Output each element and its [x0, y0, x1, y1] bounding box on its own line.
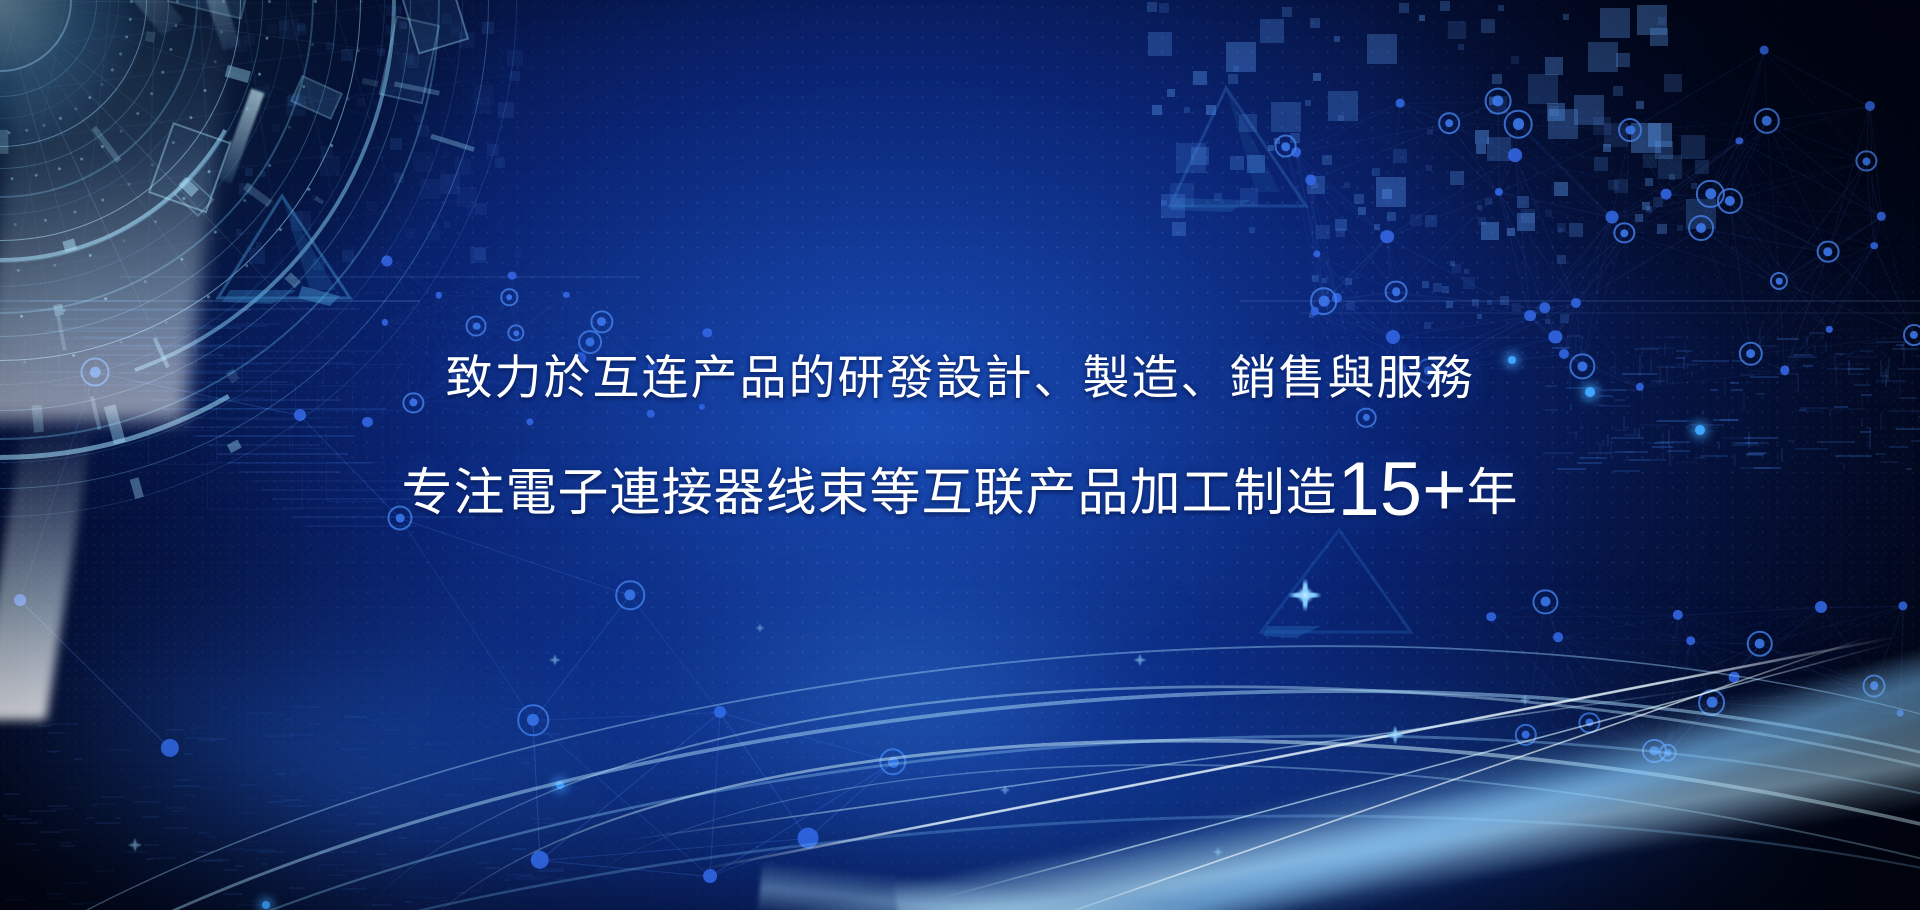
wireframe-triangle-graphic	[210, 190, 360, 310]
headline-line-1: 致力於互连产品的研發設計、製造、銷售與服務	[0, 352, 1920, 404]
headline-years-value: 15+	[1338, 447, 1467, 532]
headline-line-2-prefix: 专注電子連接器线束等互联产品加工制造	[402, 464, 1338, 521]
headline-years-unit: 年	[1466, 464, 1518, 521]
hero-banner: 致力於互连产品的研發設計、製造、銷售與服務 专注電子連接器线束等互联产品加工制造…	[0, 0, 1920, 910]
headline-block: 致力於互连产品的研發設計、製造、銷售與服務 专注電子連接器线束等互联产品加工制造…	[0, 352, 1920, 529]
wireframe-triangle-graphic	[1160, 80, 1320, 220]
headline-line-2: 专注電子連接器线束等互联产品加工制造15+年	[0, 450, 1920, 530]
wireframe-triangle-graphic	[1245, 520, 1425, 640]
